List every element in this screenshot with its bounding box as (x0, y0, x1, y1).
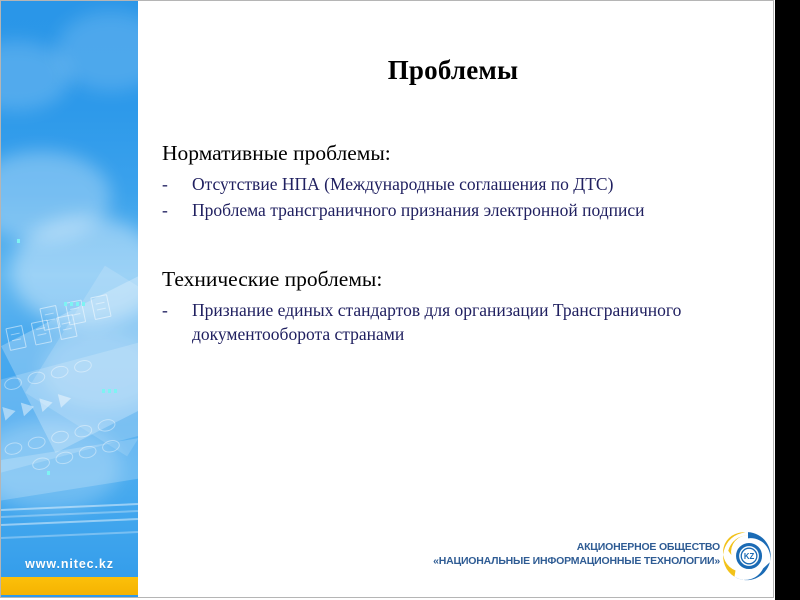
bullet-marker: - (162, 199, 192, 223)
marker-dot-group (102, 389, 117, 393)
marker-dot-group (64, 302, 85, 306)
list-item: - Проблема трансграничного признания эле… (162, 199, 752, 223)
speed-line (1, 510, 138, 518)
marker-dot (114, 389, 117, 393)
nitec-logo: KZ (722, 530, 774, 582)
list-item-text: Проблема трансграничного признания элект… (192, 199, 752, 223)
marker-dot (17, 239, 20, 243)
footer-branding: АКЦИОНЕРНОЕ ОБЩЕСТВО «НАЦИОНАЛЬНЫЕ ИНФОР… (390, 540, 720, 568)
marker-dot (108, 389, 111, 393)
speed-line (1, 531, 138, 539)
footer-company-type: АКЦИОНЕРНОЕ ОБЩЕСТВО (390, 540, 720, 554)
list-item-text: Отсутствие НПА (Международные соглашения… (192, 173, 752, 197)
presentation-slide: www.nitec.kz Проблемы Нормативные пробле… (0, 0, 800, 600)
right-black-band (775, 0, 800, 600)
site-url-label: www.nitec.kz (1, 557, 138, 571)
list-item-text: Признание единых стандартов для организа… (192, 299, 752, 347)
section-heading: Нормативные проблемы: (162, 140, 752, 167)
list-item: - Признание единых стандартов для органи… (162, 299, 752, 347)
slide-content: Нормативные проблемы: - Отсутствие НПА (… (162, 140, 752, 353)
gold-accent-bar (1, 577, 138, 595)
content-section-normative: Нормативные проблемы: - Отсутствие НПА (… (162, 140, 752, 222)
marker-dot (82, 302, 85, 306)
bullet-marker: - (162, 299, 192, 323)
decorative-sidebar: www.nitec.kz (1, 1, 138, 597)
marker-dot (64, 302, 67, 306)
document-icon (31, 319, 52, 345)
section-heading: Технические проблемы: (162, 266, 752, 293)
arrow-right-icon (21, 400, 36, 416)
document-icon (5, 325, 26, 351)
speed-line (1, 518, 138, 526)
marker-dot (70, 302, 73, 306)
marker-dot (102, 389, 105, 393)
page-title: Проблемы (139, 55, 767, 86)
arrow-right-icon (39, 396, 54, 412)
content-section-technical: Технические проблемы: - Признание единых… (162, 266, 752, 346)
bullet-marker: - (162, 173, 192, 197)
arrow-right-icon (2, 404, 17, 420)
logo-text: KZ (744, 552, 755, 561)
marker-dot (47, 471, 50, 475)
section-spacer (162, 228, 752, 266)
footer-company-name: «НАЦИОНАЛЬНЫЕ ИНФОРМАЦИОННЫЕ ТЕХНОЛОГИИ» (390, 554, 720, 568)
list-item: - Отсутствие НПА (Международные соглашен… (162, 173, 752, 197)
marker-dot (76, 302, 79, 306)
